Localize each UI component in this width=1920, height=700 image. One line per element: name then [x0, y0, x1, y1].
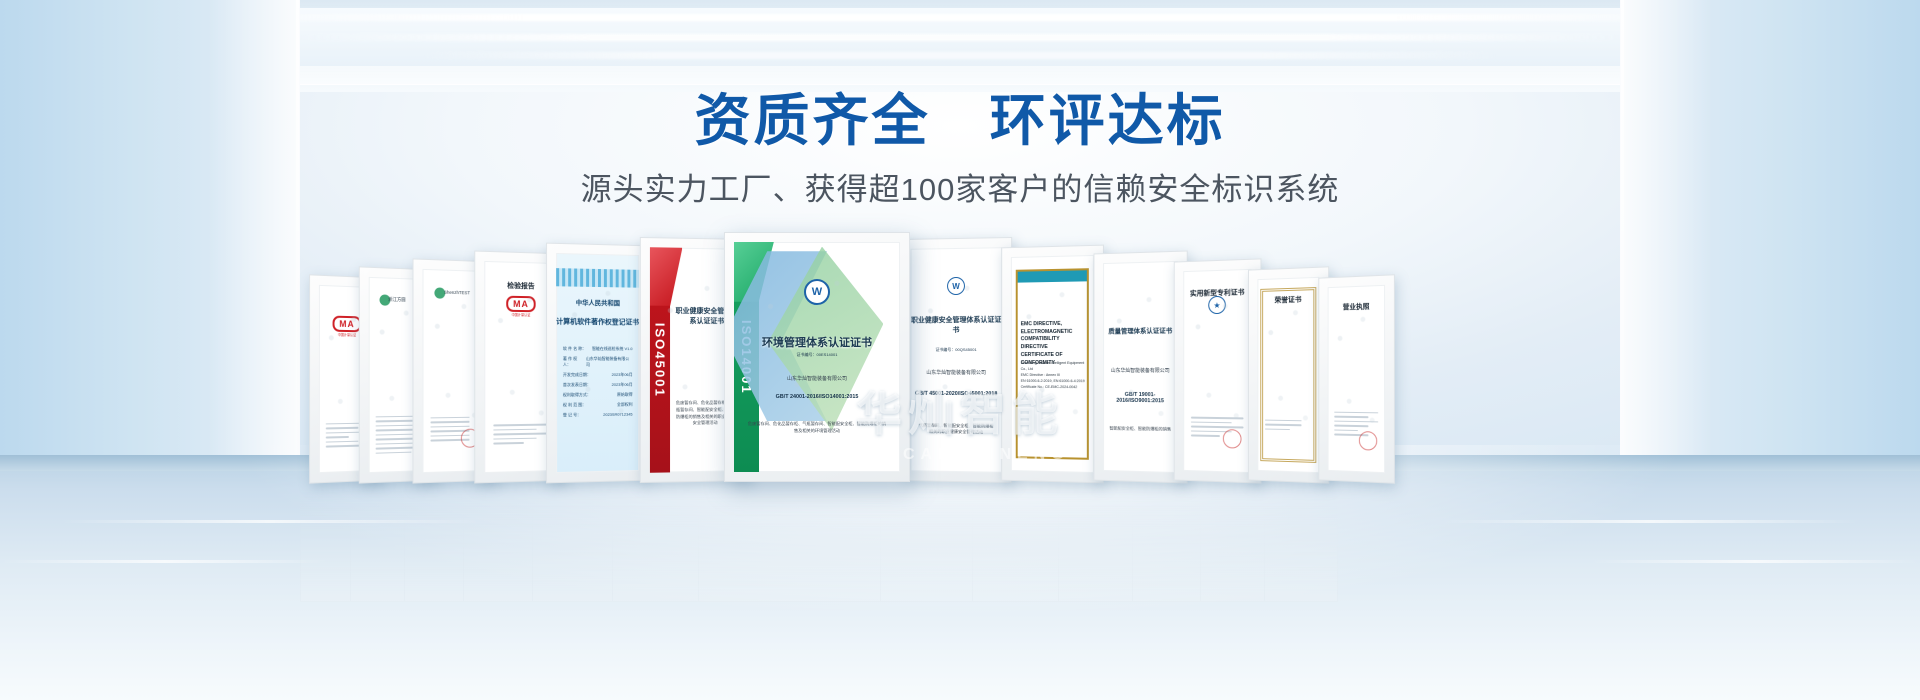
certificate-frame[interactable]: 营业执照 [1318, 274, 1395, 484]
certificate-title: 营业执照 [1328, 301, 1385, 313]
certification-seal-icon: W [947, 277, 965, 295]
certificate-frame-hero[interactable]: ISO14001 W 环境管理体系认证证书 证书编号：00ES14001 山东华… [724, 232, 910, 482]
title-part-1: 资质齐全 [694, 89, 930, 152]
field-key: 权 利 范 围： [563, 402, 586, 408]
field-key: 软 件 名 称： [563, 345, 586, 351]
ceiling-light-strip [300, 34, 1620, 41]
field-value: 全部权利 [617, 401, 633, 407]
certificate-body: Shandong Huacan Intelligent Equipment Co… [1021, 360, 1087, 391]
title-part-2: 环评达标 [990, 89, 1226, 152]
field-value: 2023年06月 [612, 371, 633, 377]
ma-mark-subtitle: 中国计量认证 [338, 332, 356, 337]
field-key: 开发完成日期： [563, 372, 591, 378]
banner-headings: 资质齐全 环评达标 源头实力工厂、获得超100家客户的信赖安全标识系统 [0, 88, 1920, 210]
certificate-title: 质量管理体系认证证书 [1103, 325, 1178, 336]
wall-edge-left [296, 0, 299, 520]
certificate-org: 浙江方圆 [388, 297, 405, 304]
certificate-applicant: Shandong Huacan Intelligent Equipment Co… [1021, 360, 1087, 372]
certificate-standard: GB/T 24001-2016/ISO14001:2015 [734, 394, 900, 400]
certificate-wall: MA 中国计量认证 浙江方圆 [300, 232, 1620, 482]
certificate-number: Certificate No.: CE-EMC-2024-0042 [1021, 384, 1087, 390]
page-title: 资质齐全 环评达标 [0, 88, 1920, 154]
certificate-number: 证书编号：00QS45001 [911, 346, 1003, 352]
certificate-frame[interactable]: EMC DIRECTIVE, ELECTROMAGNETIC COMPATIBI… [1001, 245, 1104, 484]
field-value: 山东华灿智能装备有限公司 [586, 356, 633, 368]
floor-streak [0, 560, 330, 563]
decorative-border [556, 268, 639, 287]
field-key: 首次发表日期： [563, 382, 591, 388]
national-emblem-icon: ★ [1208, 296, 1226, 314]
decorative-bar [1018, 270, 1087, 283]
certificate-company: 山东华灿智能装备有限公司 [911, 369, 1003, 376]
certificate-reflections [300, 482, 1620, 602]
field-value: 智能在线巡检系统 V1.0 [592, 346, 633, 352]
page-subtitle: 源头实力工厂、获得超100家客户的信赖安全标识系统 [0, 170, 1920, 210]
certificate-title: 环境管理体系认证证书 [734, 334, 900, 350]
certificate-title-line1: 中华人民共和国 [556, 297, 639, 307]
wall-edge-right [1621, 0, 1624, 520]
ceiling-light-strip [420, 52, 1500, 59]
floor-streak [1590, 560, 1920, 563]
certificate-company: 山东华灿智能装备有限公司 [734, 375, 900, 382]
iso-spine-label: ISO45001 [653, 322, 668, 397]
certificate-company: 山东华灿智能装备有限公司 [1103, 367, 1178, 374]
qualification-banner: 资质齐全 环评达标 源头实力工厂、获得超100家客户的信赖安全标识系统 MA 中… [0, 0, 1920, 700]
certificate-frame[interactable]: W 职业健康安全管理体系认证证书 证书编号：00QS45001 山东华灿智能装备… [901, 237, 1012, 483]
certificate-scope: 智能配安全柜、智能防爆柜的销售 [1109, 425, 1172, 433]
certificate-scope: 气瓶暂存间、智能配安全柜、智能防爆柜相关的职业健康安全管理活动 [918, 422, 995, 436]
certificate-frame[interactable]: 中华人民共和国 计算机软件著作权登记证书 软 件 名 称：智能在线巡检系统 V1… [546, 243, 649, 484]
certificate-title-line2: 计算机软件著作权登记证书 [556, 317, 639, 328]
ma-mark-subtitle: 中国计量认证 [512, 311, 531, 316]
certificate-fields: 软 件 名 称：智能在线巡检系统 V1.0 著 作 权 人：山东华灿智能装备有限… [563, 345, 633, 422]
field-value: 2023年06月 [612, 381, 633, 387]
certificate-title: 职业健康安全管理体系认证证书 [911, 315, 1003, 335]
field-key: 登 记 号： [563, 412, 581, 418]
red-stamp-icon [1223, 429, 1242, 449]
certificate-standard: GB/T 19001-2016/ISO9001:2015 [1103, 392, 1178, 405]
ma-mark-icon: MA [506, 295, 535, 312]
certificate-standard: GB/T 45001-2020/ISO45001:2018 [911, 391, 1003, 397]
certificate-frame[interactable]: 荣誉证书 [1248, 266, 1329, 483]
red-stamp-icon [1358, 431, 1376, 451]
certificate-scope: 危废暂存间、危化品暂存柜、气瓶暂存间、智能配安全柜、智能防爆柜的销售及相关的环境… [747, 421, 886, 434]
certificate-org: ShenzhTEST [444, 290, 470, 296]
field-key: 著 作 权 人： [563, 355, 586, 367]
certification-seal-icon: W [804, 279, 830, 305]
ma-mark-icon: MA [333, 315, 362, 332]
field-value: 2023SR0712345 [603, 411, 632, 417]
field-key: 权利取得方式： [563, 392, 591, 398]
certificate-number: 证书编号：00ES14001 [734, 352, 900, 358]
field-value: 原始取得 [617, 391, 633, 397]
heading-line-2: ELECTROMAGNETIC COMPATIBILITY DIRECTIVE [1021, 328, 1087, 352]
iso-spine-45001: ISO45001 [650, 247, 670, 473]
ceiling-light-strip [180, 14, 1740, 21]
decorative-border [1260, 287, 1316, 464]
